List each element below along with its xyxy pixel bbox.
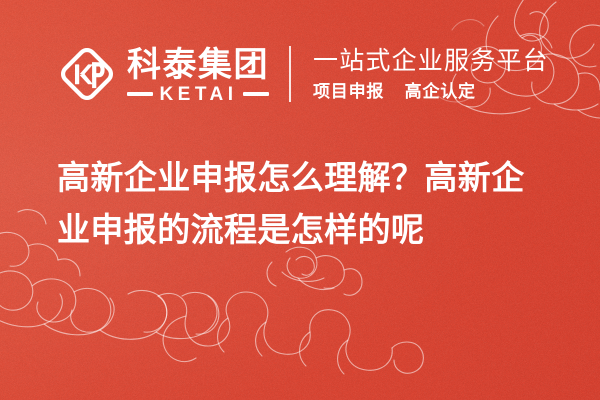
vertical-divider [289, 46, 291, 102]
tagline-sub-first: 项目申报 [313, 82, 384, 102]
logo-latin-row: KETAI [127, 85, 269, 104]
logo-latin-name: KETAI [158, 85, 237, 104]
logo-dash-left [127, 92, 153, 96]
tagline-sub: 项目申报 高企认定 [313, 82, 549, 102]
banner-header: 科泰集团 KETAI 一站式企业服务平台 项目申报 高企认定 [0, 38, 600, 110]
logo-wordmark: 科泰集团 KETAI [127, 46, 269, 104]
headline-line-2: 业申报的流程是怎样的呢 [57, 204, 549, 256]
logo-chinese-name: 科泰集团 [127, 46, 269, 84]
logo-dash-right [243, 92, 269, 96]
headline-line-1: 高新企业申报怎么理解？高新企 [57, 152, 549, 204]
tagline-main: 一站式企业服务平台 [313, 46, 549, 76]
kd-diamond-monogram-icon [57, 44, 117, 104]
promo-banner: 科泰集团 KETAI 一站式企业服务平台 项目申报 高企认定 高新企业申报怎么理… [0, 0, 600, 400]
tagline-block: 一站式企业服务平台 项目申报 高企认定 [313, 46, 549, 102]
brand-logo[interactable]: 科泰集团 KETAI [57, 44, 269, 104]
headline: 高新企业申报怎么理解？高新企 业申报的流程是怎样的呢 [57, 152, 549, 256]
tagline-sub-second: 高企认定 [405, 82, 476, 102]
